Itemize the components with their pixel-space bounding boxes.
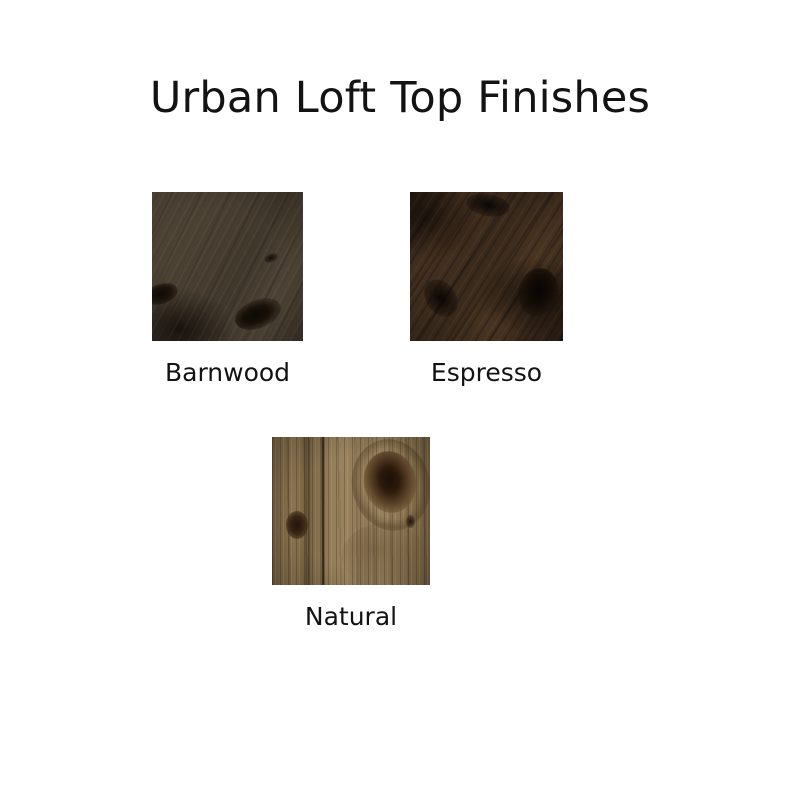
finish-option-barnwood[interactable]: Barnwood [152, 192, 303, 388]
finish-option-natural[interactable]: Natural [272, 437, 430, 632]
swatch-vignette [410, 192, 563, 341]
finish-label-espresso: Espresso [410, 358, 563, 388]
finish-label-natural: Natural [272, 602, 430, 632]
finish-label-barnwood: Barnwood [152, 358, 303, 388]
natural-swatch[interactable] [272, 437, 430, 585]
espresso-swatch[interactable] [410, 192, 563, 341]
swatch-vignette [272, 437, 430, 585]
finish-option-espresso[interactable]: Espresso [410, 192, 563, 388]
page-title: Urban Loft Top Finishes [0, 72, 800, 124]
swatch-vignette [152, 192, 303, 341]
barnwood-swatch[interactable] [152, 192, 303, 341]
finish-board: Urban Loft Top Finishes Barnwood Espress… [0, 0, 800, 800]
